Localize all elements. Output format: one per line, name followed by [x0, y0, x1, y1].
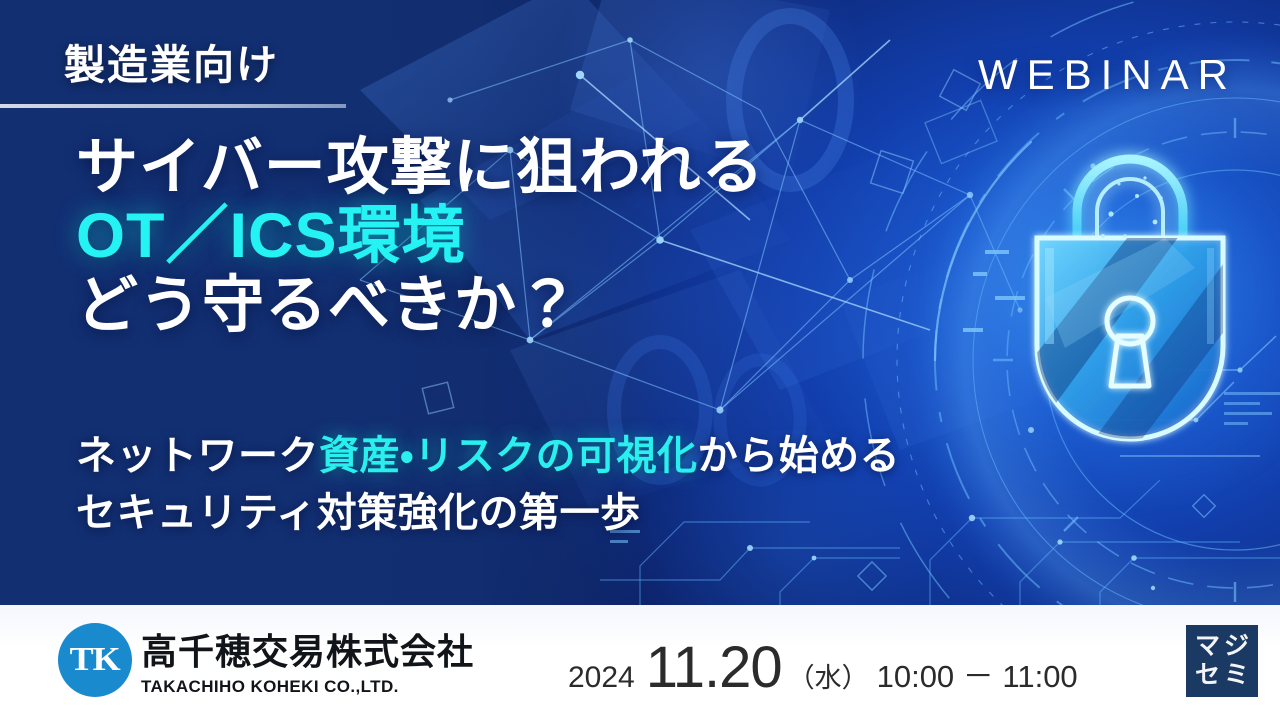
company-name-ja: 高千穂交易株式会社	[141, 634, 474, 670]
tk-circle-icon: TK	[58, 623, 132, 697]
schedule-weekday: （水）	[788, 656, 869, 695]
webinar-banner: 製造業向け WEBINAR サイバー攻撃に狙われる OT／ICS環境 どう守るべ…	[0, 0, 1280, 720]
sponsor-char-1: マ	[1194, 633, 1221, 661]
subtitle-line-2: セキュリティ対策強化の第一歩	[76, 485, 1036, 542]
sponsor-char-3: セ	[1194, 662, 1221, 690]
sponsor-logo-grid: マ ジ セ ミ	[1194, 633, 1250, 689]
page-subtitle: ネットワーク資産・リスクの可視化から始める セキュリティ対策強化の第一歩	[76, 428, 1036, 542]
title-line-2: OT／ICS環境	[76, 204, 976, 269]
tk-monogram: TK	[70, 641, 120, 679]
schedule-day: 11.20	[646, 639, 782, 697]
event-schedule: 2024 11.20 （水） 10:00 － 11:00	[568, 639, 1078, 697]
subtitle-line-1: ネットワーク資産・リスクの可視化から始める	[76, 428, 1036, 485]
header-divider	[0, 104, 346, 108]
company-logo: TK 高千穂交易株式会社 TAKACHIHO KOHEKI CO.,LTD.	[58, 623, 474, 697]
sponsor-char-2: ジ	[1223, 633, 1250, 661]
sponsor-char-4: ミ	[1223, 662, 1250, 690]
schedule-time: 10:00 － 11:00	[877, 651, 1078, 696]
page-title: サイバー攻撃に狙われる OT／ICS環境 どう守るべきか？	[76, 136, 976, 338]
sponsor-logo: マ ジ セ ミ	[1186, 625, 1258, 697]
subtitle-segment-cyan: 資産・リスクの可視化	[319, 434, 698, 478]
subtitle-segment-white-2: から始める	[698, 434, 901, 478]
company-name-en: TAKACHIHO KOHEKI CO.,LTD.	[141, 677, 474, 697]
title-line-1: サイバー攻撃に狙われる	[76, 136, 976, 200]
padlock-icon	[985, 118, 1275, 448]
schedule-year: 2024	[568, 661, 635, 695]
webinar-label: WEBINAR	[978, 51, 1237, 99]
subtitle-segment-white-1: ネットワーク	[76, 434, 319, 478]
title-line-3: どう守るべきか？	[76, 274, 976, 338]
footer-bar: TK 高千穂交易株式会社 TAKACHIHO KOHEKI CO.,LTD. 2…	[0, 605, 1280, 720]
company-names: 高千穂交易株式会社 TAKACHIHO KOHEKI CO.,LTD.	[141, 623, 474, 697]
audience-kicker: 製造業向け	[64, 31, 279, 91]
